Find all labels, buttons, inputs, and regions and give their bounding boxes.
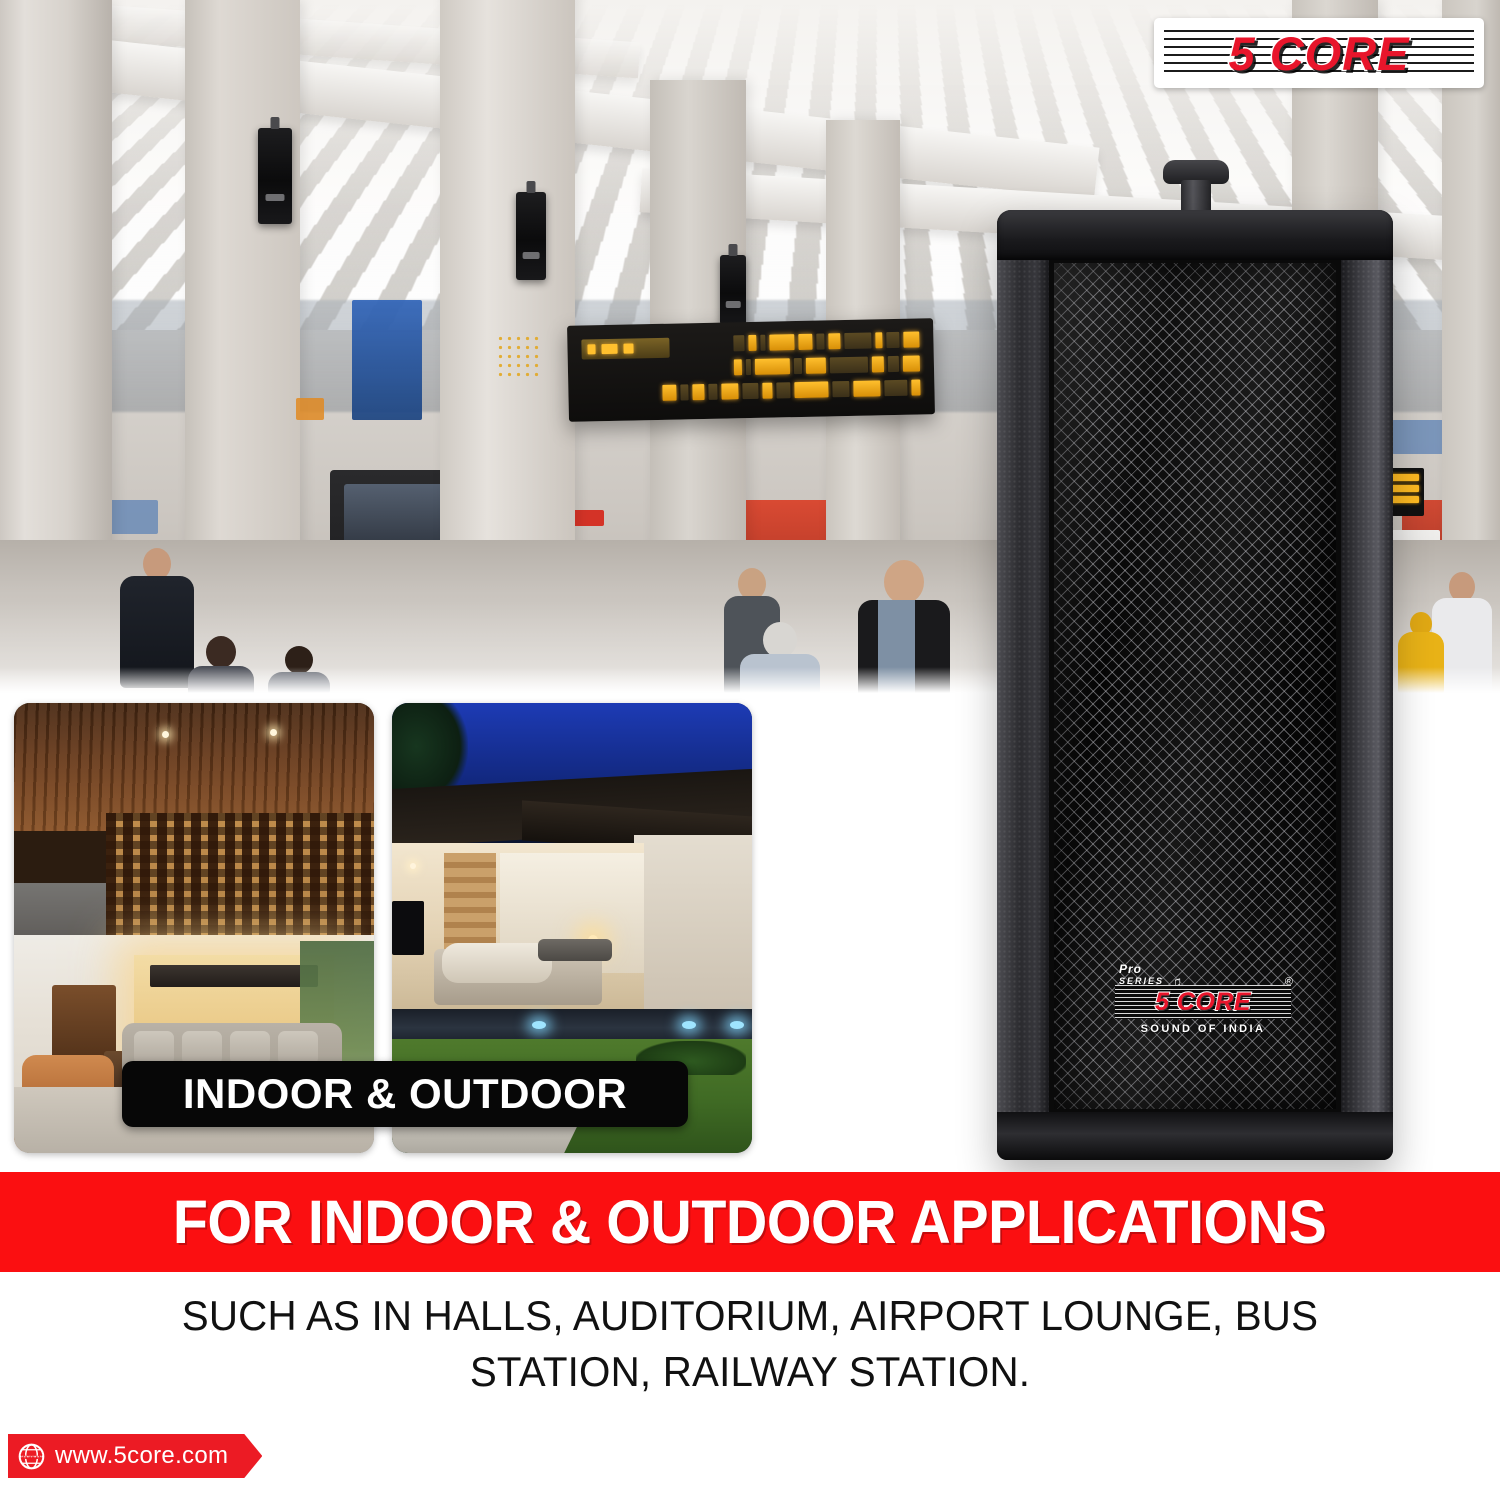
pro-series-mark: Pro SERIES — [1119, 962, 1164, 986]
bracket-knob-icon — [1163, 160, 1229, 184]
wall-tv — [392, 901, 424, 955]
pillow — [570, 939, 612, 961]
cabinet-top-cap — [997, 210, 1393, 260]
wall-artwork — [150, 965, 318, 987]
description-text: SUCH AS IN HALLS, AUDITORIUM, AIRPORT LO… — [30, 1288, 1470, 1400]
structural-column — [440, 0, 575, 630]
status-badge: INDOOR & OUTDOOR — [122, 1061, 688, 1127]
product-marketing-page: 5 CORE — [0, 0, 1500, 1500]
wall-speaker-icon — [258, 128, 292, 224]
pillar-signage-dots — [496, 334, 542, 380]
globe-www-icon: WWW — [18, 1443, 45, 1470]
wall-poster — [352, 300, 422, 420]
wall-speaker-icon — [720, 255, 746, 325]
cabinet-side-right — [1341, 254, 1393, 1118]
logo-text: 5 CORE — [1229, 26, 1410, 81]
pillar-signage-bar — [296, 398, 324, 420]
speaker-cabinet: Pro SERIES ♫ ® 5 CORE SOUND OF INDIA — [997, 210, 1393, 1160]
display-cabinet — [52, 985, 116, 1059]
cabinet-base — [997, 1112, 1393, 1160]
product-brand-text: 5 CORE — [1155, 988, 1251, 1017]
structural-column — [0, 0, 112, 560]
wood-ceiling — [14, 703, 374, 831]
wall-speaker-icon — [516, 192, 546, 280]
exterior-wall — [634, 835, 752, 1027]
product-tagline: SOUND OF INDIA — [1141, 1023, 1266, 1035]
svg-text:WWW: WWW — [21, 1452, 43, 1461]
departure-board — [567, 318, 935, 422]
headline-text: FOR INDOOR & OUTDOOR APPLICATIONS — [173, 1187, 1327, 1257]
pro-text: Pro — [1119, 962, 1142, 976]
cabinet-side-left — [997, 254, 1049, 1118]
product-logo-plate: Pro SERIES ♫ ® 5 CORE SOUND OF INDIA — [1105, 964, 1301, 1042]
duvet — [442, 943, 552, 983]
brand-logo: 5 CORE — [1154, 18, 1484, 88]
product-image-column-speaker: Pro SERIES ♫ ® 5 CORE SOUND OF INDIA — [985, 160, 1405, 1170]
website-url: www.5core.com — [55, 1442, 228, 1470]
website-tag[interactable]: WWW www.5core.com — [8, 1434, 262, 1478]
headline-banner: FOR INDOOR & OUTDOOR APPLICATIONS — [0, 1172, 1500, 1272]
logo-stripe-band: 5 CORE — [1115, 985, 1291, 1019]
description-line-1: SUCH AS IN HALLS, AUDITORIUM, AIRPORT LO… — [30, 1288, 1470, 1344]
structural-column — [185, 0, 300, 600]
badge-label: INDOOR & OUTDOOR — [183, 1070, 627, 1118]
description-line-2: STATION, RAILWAY STATION. — [30, 1344, 1470, 1400]
